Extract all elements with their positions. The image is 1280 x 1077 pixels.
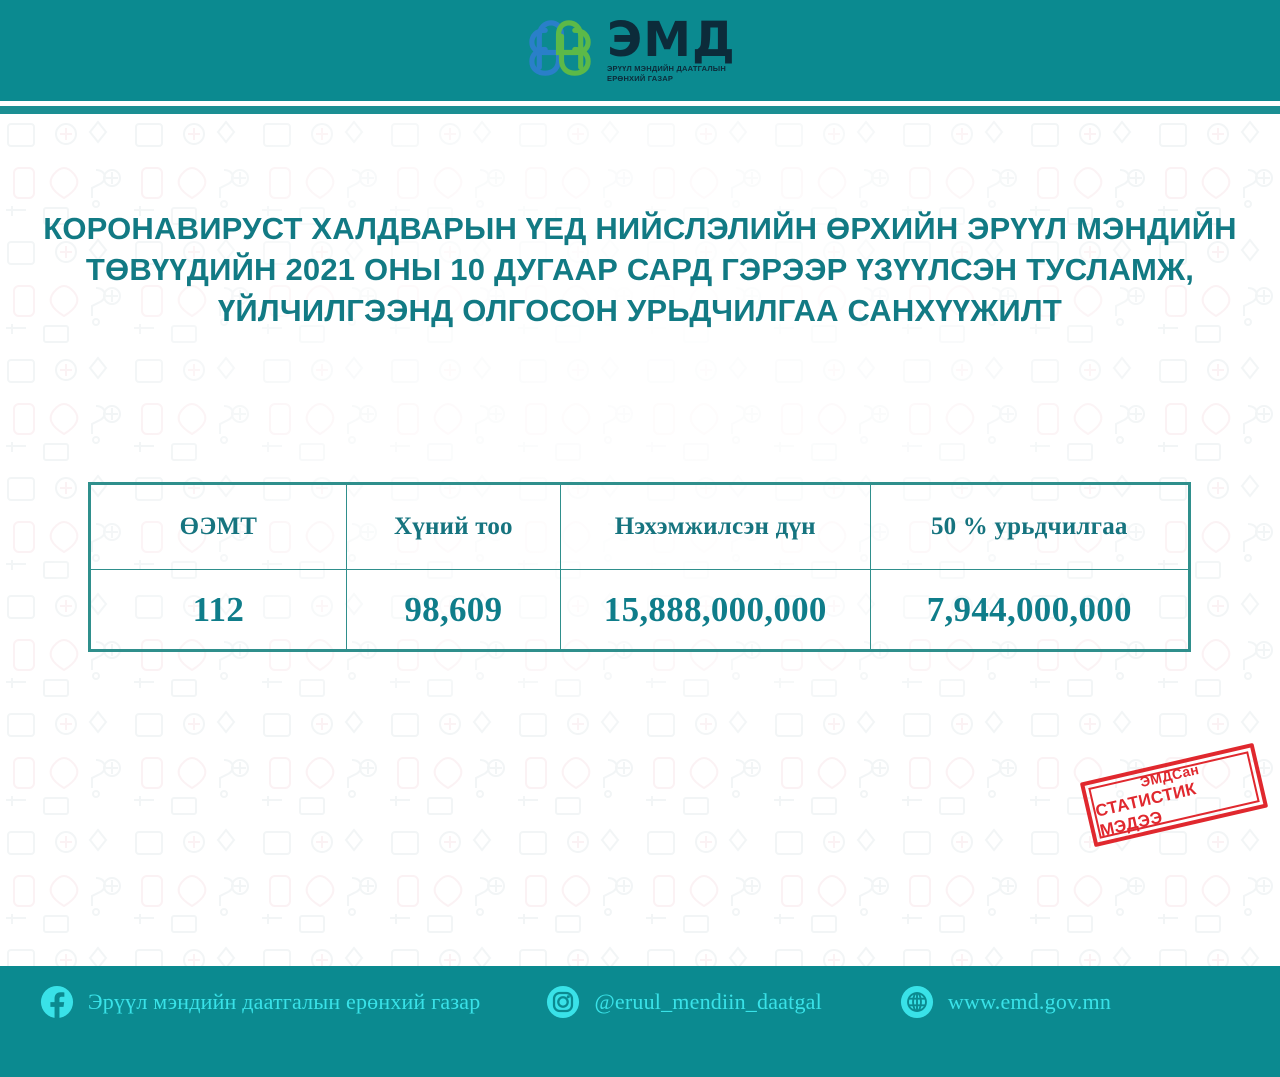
column-header-invoiced-sum: Нэхэмжилсэн дүн: [560, 485, 870, 570]
globe-icon: [900, 985, 934, 1019]
instagram-icon: [546, 985, 580, 1019]
page-body: КОРОНАВИРУСТ ХАЛДВАРЫН ҮЕД НИЙСЛЭЛИЙН ӨР…: [0, 114, 1280, 966]
cell-person-count: 98,609: [346, 570, 560, 650]
cell-oemt: 112: [91, 570, 347, 650]
cell-invoiced-sum: 15,888,000,000: [560, 570, 870, 650]
statistics-stamp: ЭМДСан СТАТИСТИК МЭДЭЭ: [1080, 743, 1268, 847]
facebook-label: Эрүүл мэндийн даатгалын ерөнхий газар: [88, 989, 480, 1015]
column-header-advance-50: 50 % урьдчилгаа: [870, 485, 1188, 570]
logo-subtitle: ЭРҮҮЛ МЭНДИЙН ДААТГАЛЫН ЕРӨНХИЙ ГАЗАР: [607, 64, 737, 83]
column-header-person-count: Хүний тоо: [346, 485, 560, 570]
footer-website[interactable]: www.emd.gov.mn: [900, 985, 1111, 1019]
footer-facebook[interactable]: Эрүүл мэндийн даатгалын ерөнхий газар: [40, 985, 480, 1019]
column-header-oemt: ӨЭМТ: [91, 485, 347, 570]
page-title: КОРОНАВИРУСТ ХАЛДВАРЫН ҮЕД НИЙСЛЭЛИЙН ӨР…: [0, 208, 1280, 332]
page-header: ЭМД ЭРҮҮЛ МЭНДИЙН ДААТГАЛЫН ЕРӨНХИЙ ГАЗА…: [0, 0, 1280, 101]
page-title-line-1: КОРОНАВИРУСТ ХАЛДВАРЫН ҮЕД НИЙСЛЭЛИЙН ӨР…: [40, 208, 1240, 249]
table-header-row: ӨЭМТ Хүний тоо Нэхэмжилсэн дүн 50 % урьд…: [91, 485, 1189, 570]
organization-logo: ЭМД ЭРҮҮЛ МЭНДИЙН ДААТГАЛЫН ЕРӨНХИЙ ГАЗА…: [523, 14, 737, 88]
website-label: www.emd.gov.mn: [948, 989, 1111, 1015]
emd-knot-logo-icon: [523, 14, 597, 88]
table-row: 112 98,609 15,888,000,000 7,944,000,000: [91, 570, 1189, 650]
statistics-table: ӨЭМТ Хүний тоо Нэхэмжилсэн дүн 50 % урьд…: [88, 482, 1191, 652]
instagram-label: @eruul_mendiin_daatgal: [594, 989, 821, 1015]
header-accent-stripe: [0, 106, 1280, 114]
facebook-icon: [40, 985, 74, 1019]
footer-instagram[interactable]: @eruul_mendiin_daatgal: [546, 985, 821, 1019]
cell-advance-50: 7,944,000,000: [870, 570, 1188, 650]
page-title-line-3: ҮЙЛЧИЛГЭЭНД ОЛГОСОН УРЬДЧИЛГАА САНХҮҮЖИЛ…: [40, 290, 1240, 331]
page-title-line-2: ТӨВҮҮДИЙН 2021 ОНЫ 10 ДУГААР САРД ГЭРЭЭР…: [40, 249, 1240, 290]
page-footer: Эрүүл мэндийн даатгалын ерөнхий газар @e…: [0, 966, 1280, 1077]
logo-title: ЭМД: [607, 18, 736, 62]
